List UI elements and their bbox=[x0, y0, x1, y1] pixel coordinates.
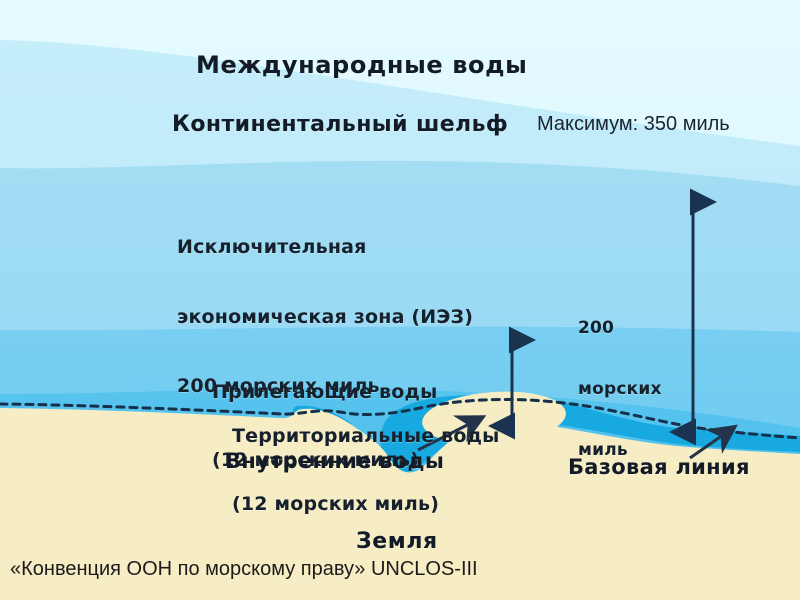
label-eez-line-2: экономическая зона (ИЭЗ) bbox=[177, 306, 473, 329]
diagram-canvas: Международные воды Континентальный шельф… bbox=[0, 0, 800, 600]
label-maximum-350-miles: Максимум: 350 миль bbox=[537, 113, 730, 135]
label-200nm-line-1: 200 bbox=[578, 318, 662, 338]
label-territorial-line-2: (12 морских миль) bbox=[232, 493, 500, 516]
caption-unclos: «Конвенция ООН по морскому праву» UNCLOS… bbox=[10, 558, 478, 581]
label-continental-shelf: Континентальный шельф bbox=[172, 113, 508, 138]
label-baseline: Базовая линия bbox=[568, 456, 750, 480]
label-internal-waters: Внутренние воды bbox=[225, 450, 444, 474]
label-eez-line-1: Исключительная bbox=[177, 236, 473, 259]
label-200nm-line-2: морских bbox=[578, 379, 662, 399]
label-territorial-line-1: Территориальные воды bbox=[232, 425, 500, 448]
label-international-waters: Международные воды bbox=[196, 52, 527, 79]
label-land: Земля bbox=[356, 530, 438, 555]
